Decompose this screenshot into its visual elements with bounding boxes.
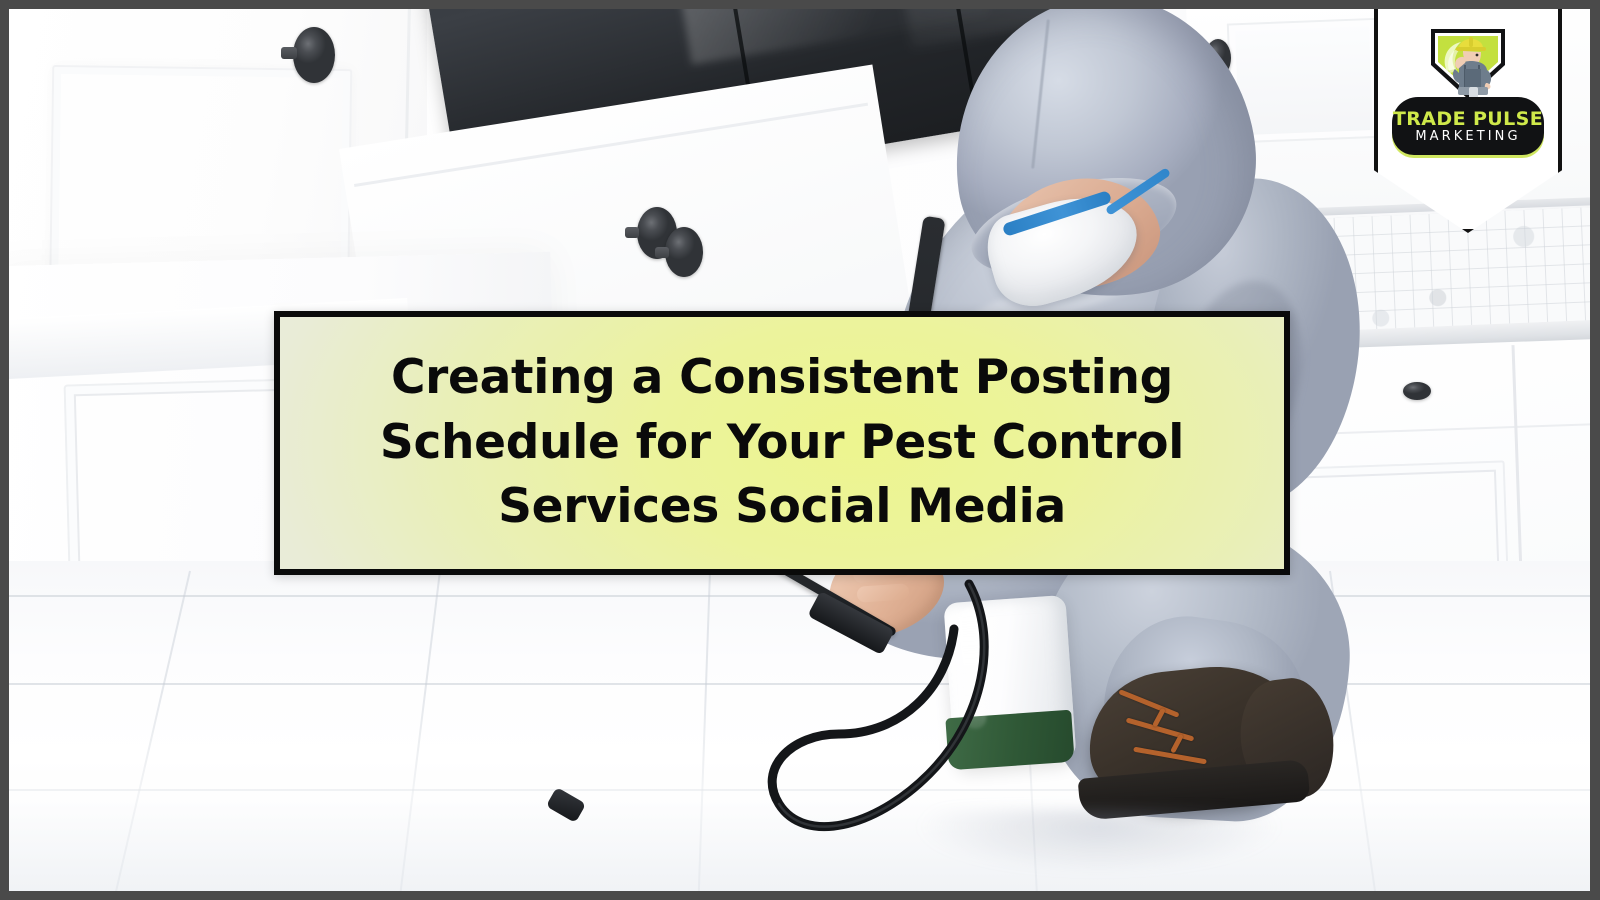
title-card: Creating a Consistent Posting Schedule f… <box>274 311 1290 575</box>
floor-reflection <box>889 809 1309 891</box>
logo-brand-tagline: MARKETING <box>1415 130 1520 143</box>
cabinet-knob-stem <box>655 247 669 258</box>
logo-shield <box>1425 25 1511 103</box>
logo-brand-name: TRADE PULSE <box>1393 110 1543 129</box>
image-canvas: Creating a Consistent Posting Schedule f… <box>9 9 1590 891</box>
brand-logo[interactable]: TRADE PULSE MARKETING <box>1374 9 1562 233</box>
page-title: Creating a Consistent Posting Schedule f… <box>332 346 1232 541</box>
cabinet-knob-stem <box>625 227 639 238</box>
cabinet-knob-icon <box>293 27 335 83</box>
tradesman-shield-icon <box>1425 25 1511 103</box>
logo-wordmark: TRADE PULSE MARKETING <box>1392 97 1544 155</box>
cabinet-knob-icon <box>1403 382 1431 400</box>
cabinet-knob-stem <box>281 47 297 59</box>
cabinet-knob-icon <box>665 227 703 277</box>
image-frame: Creating a Consistent Posting Schedule f… <box>0 0 1600 900</box>
